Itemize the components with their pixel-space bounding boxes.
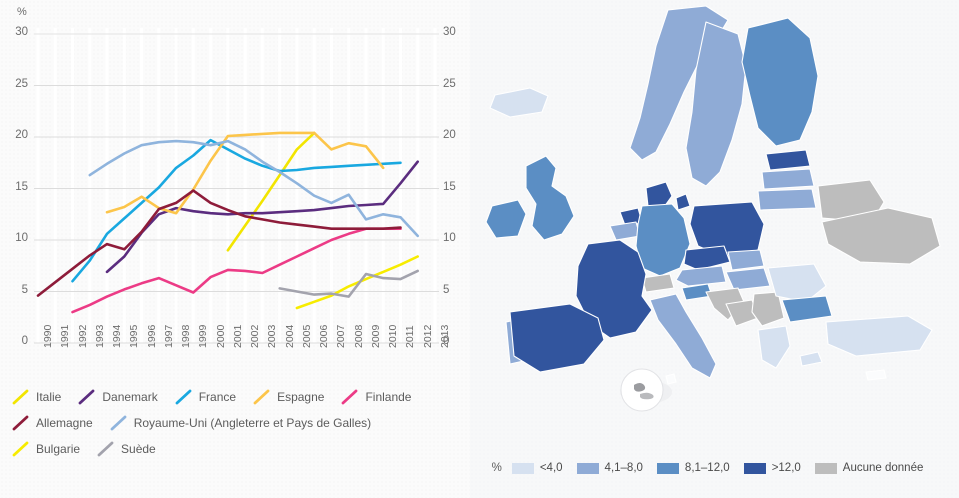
y-axis-right-tick: 15 [443, 181, 467, 193]
legend-item-danemark[interactable]: Danemark [78, 389, 157, 405]
chart-legend: ItalieDanemarkFranceEspagneFinlandeAllem… [12, 387, 462, 465]
legend-color-swatch-icon [12, 415, 29, 431]
x-axis-tick-2007: 2007 [335, 325, 347, 348]
y-axis-right-tick: 20 [443, 129, 467, 141]
x-axis-tick-2005: 2005 [301, 325, 313, 348]
x-axis-tick-2001: 2001 [232, 325, 244, 348]
map-country-italie[interactable] [650, 294, 716, 378]
map-legend-label: 4,1–8,0 [605, 462, 643, 474]
map-legend: % <4,04,1–8,08,1–12,0>12,0Aucune donnée [470, 462, 959, 474]
series-line-finlande [73, 229, 401, 312]
map-country-grece[interactable] [758, 326, 822, 368]
x-axis-tick-1990: 1990 [42, 325, 54, 348]
x-axis-tick-2003: 2003 [266, 325, 278, 348]
legend-color-swatch-icon [341, 389, 358, 405]
x-axis-tick-1996: 1996 [146, 325, 158, 348]
map-legend-item-4-1-8-0[interactable]: 4,1–8,0 [577, 462, 643, 474]
map-country-malte-pt[interactable] [666, 374, 676, 384]
map-country-belgique[interactable] [610, 222, 640, 240]
map-country-chypre[interactable] [866, 370, 886, 380]
x-axis-tick-1993: 1993 [94, 325, 106, 348]
x-axis-tick-2010: 2010 [387, 325, 399, 348]
x-axis-tick-1995: 1995 [128, 325, 140, 348]
legend-color-swatch-icon [78, 389, 95, 405]
map-country-finlande[interactable] [742, 18, 818, 146]
y-axis-left-tick: 0 [4, 335, 28, 347]
x-axis-tick-1999: 1999 [197, 325, 209, 348]
map-legend-color-swatch-icon [815, 463, 837, 474]
legend-label: Allemagne [36, 416, 93, 430]
legend-label: Espagne [277, 390, 324, 404]
legend-label: France [199, 390, 236, 404]
legend-color-swatch-icon [97, 441, 114, 457]
legend-color-swatch-icon [175, 389, 192, 405]
map-legend-color-swatch-icon [512, 463, 534, 474]
legend-label: Suède [121, 442, 156, 456]
legend-label: Finlande [365, 390, 411, 404]
map-legend-color-swatch-icon [657, 463, 679, 474]
map-country-royaume-uni[interactable] [526, 156, 574, 240]
legend-item-su-de[interactable]: Suède [97, 441, 156, 457]
legend-color-swatch-icon [12, 441, 29, 457]
map-legend-label: >12,0 [772, 462, 801, 474]
x-axis-tick-2009: 2009 [370, 325, 382, 348]
legend-label: Bulgarie [36, 442, 80, 456]
map-country-lituanie[interactable] [758, 189, 816, 210]
map-legend-color-swatch-icon [577, 463, 599, 474]
legend-color-swatch-icon [110, 415, 127, 431]
x-axis-tick-2002: 2002 [249, 325, 261, 348]
legend-color-swatch-icon [253, 389, 270, 405]
x-axis-tick-1991: 1991 [59, 325, 71, 348]
y-axis-left-tick: 5 [4, 284, 28, 296]
map-country-bulgarie[interactable] [782, 296, 832, 322]
map-country-turquie[interactable] [826, 316, 932, 356]
y-axis-left-tick: 30 [4, 26, 28, 38]
x-axis-tick-2012: 2012 [422, 325, 434, 348]
map-legend-color-swatch-icon [744, 463, 766, 474]
y-axis-right-tick: 5 [443, 284, 467, 296]
map-legend-item-aucune-donn-e[interactable]: Aucune donnée [815, 462, 924, 474]
legend-item-bulgarie[interactable]: Bulgarie [12, 441, 80, 457]
legend-item-france[interactable]: France [175, 389, 236, 405]
legend-label: Italie [36, 390, 61, 404]
map-legend-item-12-0[interactable]: >12,0 [744, 462, 801, 474]
legend-row: AllemagneRoyaume-Uni (Angleterre et Pays… [12, 413, 462, 432]
map-legend-item-4-0[interactable]: <4,0 [512, 462, 563, 474]
series-line-italie [228, 133, 314, 250]
map-country-islande[interactable] [490, 88, 548, 117]
line-chart-svg [0, 0, 470, 380]
map-country-allemagne[interactable] [636, 204, 690, 276]
map-country-slovaquie[interactable] [728, 250, 764, 270]
legend-item-espagne[interactable]: Espagne [253, 389, 324, 405]
map-country-tchequie[interactable] [684, 246, 730, 270]
x-axis-tick-1994: 1994 [111, 325, 123, 348]
x-axis-tick-2008: 2008 [353, 325, 365, 348]
y-axis-left-tick: 25 [4, 78, 28, 90]
x-axis-tick-1997: 1997 [163, 325, 175, 348]
x-axis-tick-1992: 1992 [77, 325, 89, 348]
legend-item-finlande[interactable]: Finlande [341, 389, 411, 405]
europe-map-svg [470, 0, 959, 460]
map-country-hongrie[interactable] [726, 268, 770, 290]
legend-row: BulgarieSuède [12, 439, 462, 458]
map-country-espagne[interactable] [510, 304, 604, 372]
y-axis-right-tick: 30 [443, 26, 467, 38]
map-legend-unit-label: % [492, 462, 502, 474]
x-axis-tick-2004: 2004 [284, 325, 296, 348]
line-chart-panel: % 302520151050 302520151050 199019911992… [0, 0, 470, 498]
map-country-suisse[interactable] [642, 274, 674, 292]
legend-label: Danemark [102, 390, 157, 404]
map-country-autriche[interactable] [676, 266, 726, 286]
legend-label: Royaume-Uni (Angleterre et Pays de Galle… [134, 416, 371, 430]
map-country-lettonie[interactable] [762, 169, 814, 189]
legend-item-royaume-uni-angleterre-et-pays-de-galles[interactable]: Royaume-Uni (Angleterre et Pays de Galle… [110, 415, 371, 431]
map-country-irlande[interactable] [486, 200, 526, 238]
x-axis-tick-2006: 2006 [318, 325, 330, 348]
legend-item-italie[interactable]: Italie [12, 389, 61, 405]
map-legend-label: 8,1–12,0 [685, 462, 730, 474]
legend-item-allemagne[interactable]: Allemagne [12, 415, 93, 431]
x-axis-tick-2000: 2000 [215, 325, 227, 348]
x-axis-tick-2011: 2011 [404, 325, 416, 348]
legend-color-swatch-icon [12, 389, 29, 405]
europe-choropleth-panel: % <4,04,1–8,08,1–12,0>12,0Aucune donnée [470, 0, 959, 498]
infographic-root: % 302520151050 302520151050 199019911992… [0, 0, 959, 498]
y-axis-right-tick: 25 [443, 78, 467, 90]
map-legend-item-8-1-12-0[interactable]: 8,1–12,0 [657, 462, 730, 474]
y-axis-left-tick: 10 [4, 232, 28, 244]
magnifier-inset [620, 369, 672, 411]
map-legend-label: Aucune donnée [843, 462, 924, 474]
x-axis-tick-1998: 1998 [180, 325, 192, 348]
chart-gridlines [34, 28, 439, 343]
y-axis-left-tick: 20 [4, 129, 28, 141]
legend-row: ItalieDanemarkFranceEspagneFinlande [12, 387, 462, 406]
map-country-estonie[interactable] [766, 150, 810, 170]
x-axis-tick-2013: 2013 [439, 325, 451, 348]
y-axis-left-tick: 15 [4, 181, 28, 193]
map-legend-label: <4,0 [540, 462, 563, 474]
y-axis-right-tick: 10 [443, 232, 467, 244]
